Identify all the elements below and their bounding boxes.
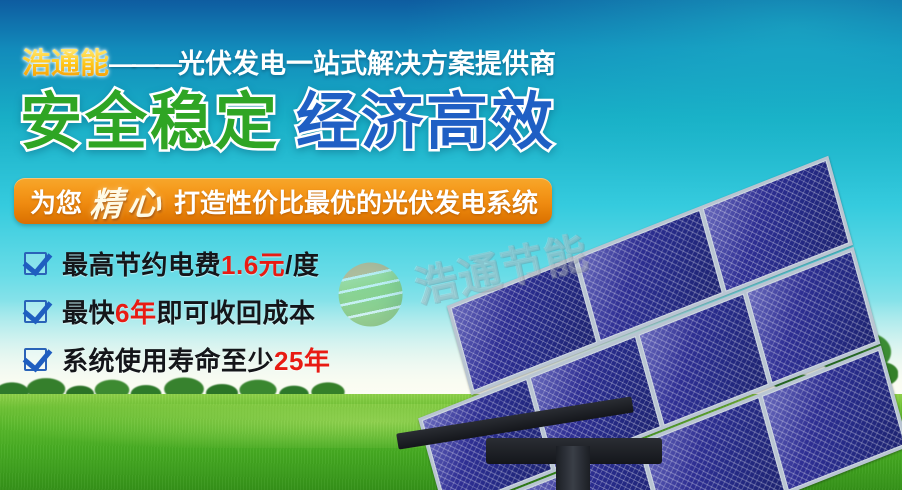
feature-list: 最高节约电费1.6元/度 最快6年即可收回成本 系统使用寿命至少25年	[24, 243, 330, 387]
ribbon-script-text: 精心	[88, 176, 168, 227]
list-item-label: 系统使用寿命至少25年	[62, 341, 330, 378]
tagline-text: 光伏发电一站式解决方案提供商	[178, 49, 556, 79]
bullet-1-pre: 最高节约电费	[62, 250, 221, 280]
ribbon-suffix: 打造性价比最优的光伏发电系统	[174, 183, 538, 220]
bullet-1-highlight: 1.6元	[221, 250, 285, 280]
brand-name: 浩通能	[22, 48, 109, 80]
mounting-post	[556, 446, 590, 490]
checkbox-checked-icon	[24, 300, 47, 323]
list-item: 系统使用寿命至少25年	[24, 339, 330, 379]
checkbox-checked-icon	[24, 252, 47, 275]
bullet-3-highlight: 25年	[274, 346, 330, 376]
bullet-2-post: 即可收回成本	[156, 298, 315, 328]
headline-part-1: 安全稳定	[20, 88, 280, 157]
list-item: 最快6年即可收回成本	[24, 291, 330, 331]
tagline-dash: ———	[109, 49, 178, 79]
list-item-label: 最快6年即可收回成本	[62, 293, 316, 330]
solar-panel-group	[294, 109, 902, 490]
headline-part-2: 经济高效	[296, 88, 556, 157]
bullet-2-pre: 最快	[62, 298, 115, 328]
ribbon-prefix: 为您	[30, 183, 82, 220]
tagline: 浩通能———光伏发电一站式解决方案提供商	[22, 40, 556, 82]
checkbox-checked-icon	[24, 348, 47, 371]
list-item-label: 最高节约电费1.6元/度	[62, 245, 319, 282]
page-title: 安全稳定经济高效	[20, 92, 556, 154]
promo-banner: 浩通节能 浩通能———光伏发电一站式解决方案提供商 安全稳定经济高效 为您 精心…	[0, 0, 902, 490]
bullet-1-post: /度	[285, 250, 319, 280]
bullet-2-highlight: 6年	[115, 298, 156, 328]
list-item: 最高节约电费1.6元/度	[24, 243, 330, 283]
subtitle-ribbon: 为您 精心 打造性价比最优的光伏发电系统	[14, 178, 552, 224]
bullet-3-pre: 系统使用寿命至少	[62, 346, 274, 376]
